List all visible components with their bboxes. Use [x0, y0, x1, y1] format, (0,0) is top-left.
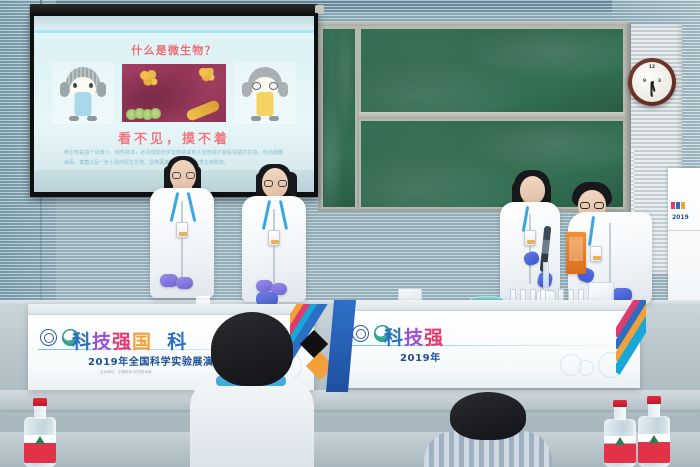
- id-badge: [524, 230, 536, 246]
- id-badge: [268, 230, 280, 246]
- pine-tree-icon: [649, 435, 659, 443]
- water-bottle-left: [24, 398, 56, 467]
- id-badge: [176, 222, 188, 238]
- bottle-cap: [647, 396, 661, 404]
- blackboard-panel-left: [321, 27, 357, 209]
- banner-headline-right: 科技强: [384, 323, 444, 350]
- eyeglasses-icon: [264, 180, 287, 187]
- right-edge-banner: 2019: [668, 168, 700, 300]
- clock-dial: 12 9 3 6: [632, 62, 672, 102]
- bottle-cap: [613, 400, 627, 407]
- cas-emblem-icon: [352, 325, 369, 342]
- orange-container: [566, 232, 586, 274]
- presenter-1: [148, 156, 216, 306]
- banner-corner-graphic-right: [616, 300, 646, 388]
- blackboard-panel-upper: [359, 27, 625, 115]
- bottle-cap: [33, 398, 47, 406]
- side-banner-year: 2019: [672, 214, 689, 221]
- cas-emblem-icon: [40, 329, 57, 346]
- eyeglasses-icon: [580, 202, 604, 209]
- girl-illustration-left-icon: [52, 62, 114, 124]
- demo-table-right: 科技强 2019年: [340, 300, 640, 388]
- floor-step-lower: [0, 432, 700, 467]
- lab-glove: [176, 277, 193, 289]
- banner-headline-left: 科技强国 科: [72, 327, 187, 354]
- water-bottle-right-2: [638, 396, 670, 467]
- microscope-photo: [122, 64, 226, 122]
- pine-tree-icon: [35, 436, 45, 444]
- audience-1: [190, 312, 314, 467]
- slide-headline: 看不见，摸不着: [34, 128, 314, 147]
- banner-subtitle-right: 2019年: [400, 349, 441, 364]
- id-badge: [590, 246, 602, 262]
- presenter-2: [238, 164, 310, 310]
- pine-tree-icon: [615, 437, 625, 445]
- table-banner-right: 科技强 2019年: [340, 311, 640, 388]
- floor-step-upper: [0, 390, 700, 410]
- water-bottle-right-1: [604, 400, 636, 467]
- audience-2: [424, 392, 552, 467]
- classroom-scene: 12 9 3 6 什么是微生物？: [0, 0, 700, 467]
- slide-image-row: [52, 62, 296, 124]
- slide-title: 什么是微生物？: [34, 42, 314, 58]
- banner-footnote-left: 主办单位：中国科协 科学技术部: [100, 370, 151, 375]
- wall-clock: 12 9 3 6: [628, 58, 676, 106]
- girl-illustration-right-icon: [234, 62, 296, 124]
- eyeglasses-icon: [172, 172, 195, 179]
